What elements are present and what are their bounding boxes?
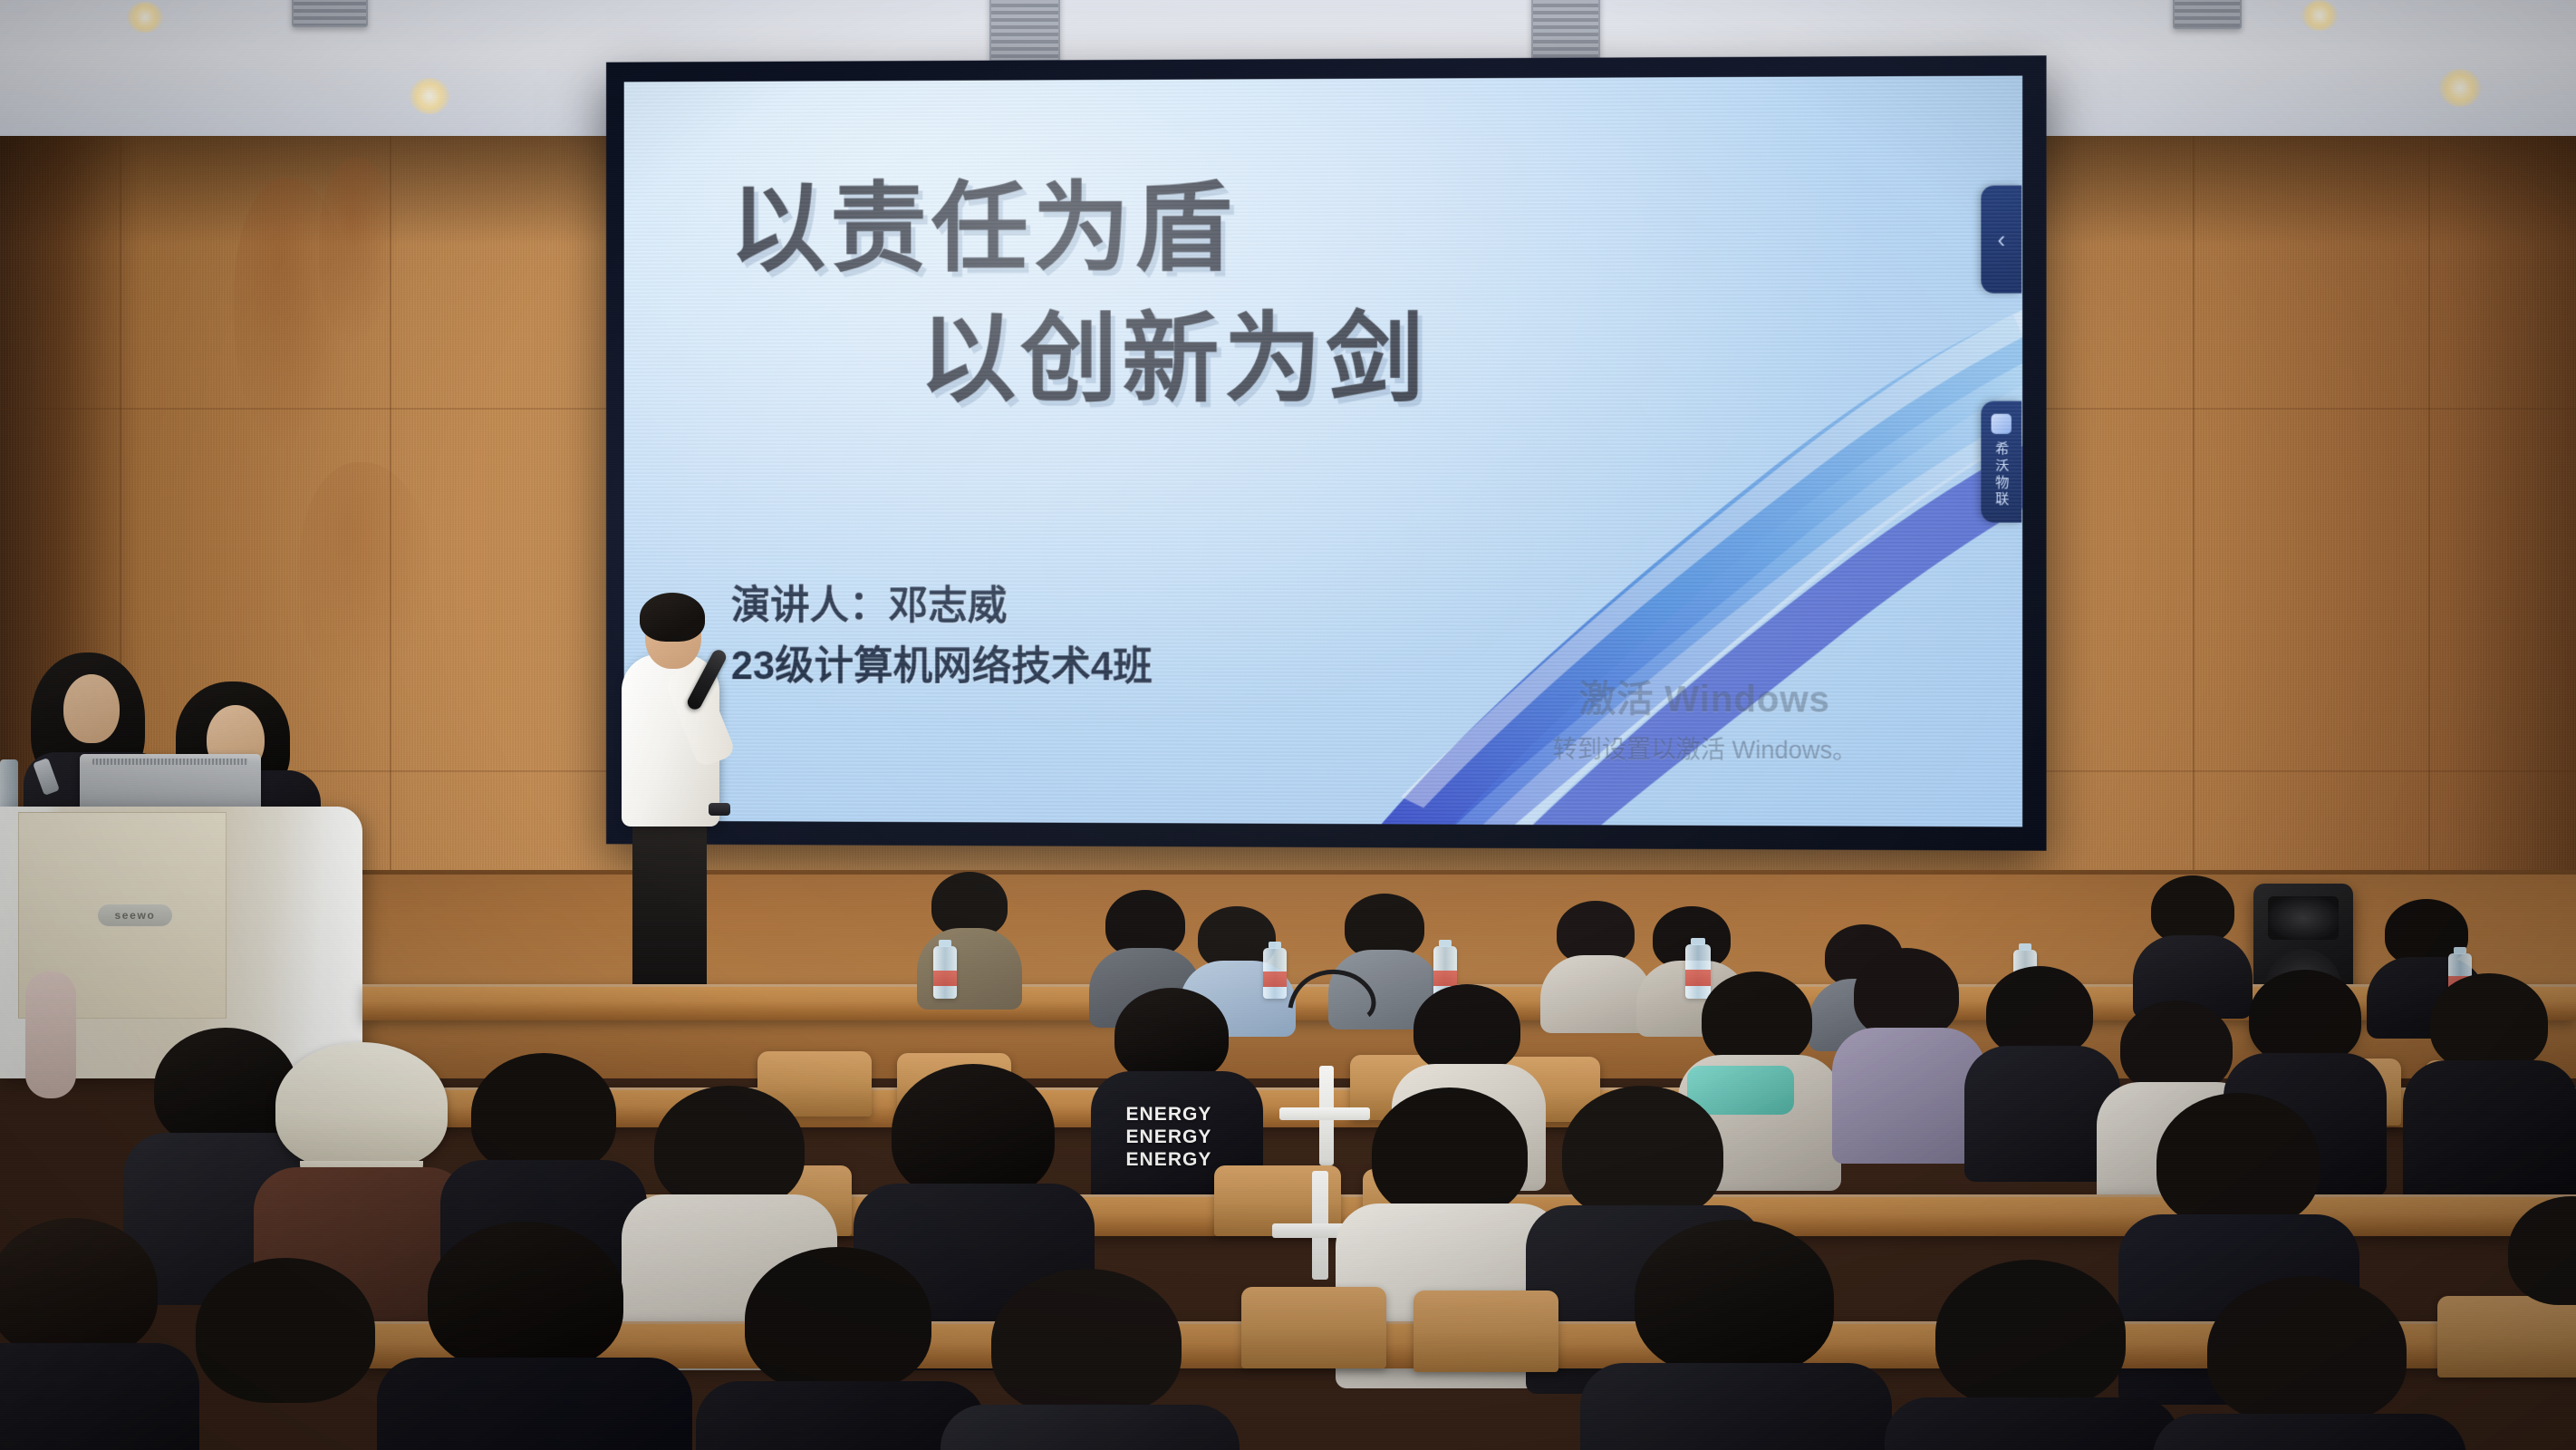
audience-hair bbox=[2156, 1093, 2320, 1229]
audience-hair bbox=[1854, 948, 1959, 1039]
ceiling-vent bbox=[1531, 0, 1600, 65]
lecture-hall-photo: 以责任为盾 以创新为剑 演讲人：邓志威 23级计算机网络技术4班 激活 Wind… bbox=[0, 0, 2576, 1450]
presentation-clicker bbox=[709, 803, 730, 816]
audience-member bbox=[2501, 1196, 2576, 1396]
ceiling-downlight bbox=[2301, 0, 2338, 31]
audience-hair bbox=[2120, 1000, 2233, 1093]
audio-cable bbox=[1285, 962, 1394, 1017]
audience-member bbox=[1973, 966, 2109, 1174]
audience-member bbox=[2414, 973, 2568, 1200]
audience-torso bbox=[1832, 1028, 1986, 1164]
audience-hair bbox=[745, 1247, 931, 1392]
audience-hair bbox=[1372, 1087, 1528, 1218]
audience-member bbox=[716, 1247, 970, 1450]
audience-hair bbox=[2151, 875, 2234, 944]
ceiling-vent bbox=[2173, 0, 2242, 29]
audience-hair bbox=[892, 1064, 1055, 1200]
audience-hair bbox=[1413, 984, 1520, 1073]
slide-title: 以责任为盾 以创新为剑 bbox=[624, 159, 2022, 424]
ceiling-downlight bbox=[410, 78, 449, 114]
seat-back bbox=[1413, 1290, 1558, 1372]
seewo-iot-label: 希沃物联 bbox=[1992, 441, 2011, 508]
slide-subtitle: 演讲人：邓志威 23级计算机网络技术4班 bbox=[731, 576, 1153, 698]
audience-hair bbox=[196, 1258, 375, 1403]
audience-member bbox=[1602, 1220, 1874, 1450]
audience-torso bbox=[377, 1358, 692, 1450]
audience-hair bbox=[0, 1218, 158, 1358]
windows-activation-watermark: 激活 Windows 转到设置以激活 Windows。 bbox=[1553, 670, 1857, 767]
audience-member bbox=[1839, 948, 1975, 1156]
baseball-cap bbox=[275, 1042, 448, 1169]
seewo-brand-plate: seewo bbox=[98, 904, 172, 926]
presenter-hair bbox=[640, 593, 705, 642]
bottle-label bbox=[933, 971, 957, 986]
stage-edge bbox=[0, 870, 2576, 875]
chevron-left-icon[interactable]: ‹ bbox=[1981, 186, 2021, 294]
ceiling-vent bbox=[989, 0, 1060, 62]
audience-hair bbox=[1562, 1086, 1723, 1220]
audience-torso bbox=[1580, 1363, 1892, 1450]
raised-arm bbox=[25, 971, 76, 1098]
audience-hair bbox=[991, 1269, 1182, 1416]
presenter bbox=[613, 571, 739, 988]
slide-title-line-2: 以创新为剑 bbox=[624, 292, 2022, 424]
seewo-iot-badge[interactable]: 希沃物联 bbox=[1981, 401, 2021, 523]
audience-member bbox=[2147, 875, 2238, 1002]
audience-hair bbox=[428, 1222, 623, 1372]
audience-hair bbox=[1986, 966, 2093, 1057]
audience-hair bbox=[654, 1086, 805, 1209]
audience-member bbox=[1905, 1260, 2158, 1450]
speaker-tweeter bbox=[2268, 896, 2339, 940]
audience-hair bbox=[1935, 1260, 2126, 1408]
audience-member bbox=[18, 961, 127, 1106]
audience-member bbox=[2175, 1276, 2446, 1450]
audience-torso bbox=[1885, 1397, 2180, 1450]
operator-1-head bbox=[63, 674, 120, 743]
audience-member-with-logo-tee bbox=[399, 1222, 671, 1450]
audience-hair bbox=[2430, 973, 2548, 1071]
audience-member bbox=[169, 1258, 404, 1450]
audience-hair bbox=[1635, 1220, 1834, 1376]
slide-title-line-1: 以责任为盾 bbox=[624, 159, 2022, 295]
water-bottle bbox=[1263, 948, 1287, 999]
seewo-iot-toolbar[interactable]: ‹ 希沃物联 bbox=[1980, 186, 2022, 523]
ceiling-vent bbox=[292, 0, 368, 27]
audience-hair bbox=[471, 1053, 616, 1174]
audience-member bbox=[960, 1269, 1223, 1450]
audience-hair bbox=[2207, 1276, 2407, 1425]
water-bottle bbox=[933, 946, 957, 999]
seat-back bbox=[1241, 1287, 1386, 1368]
audience-hair bbox=[2249, 970, 2361, 1064]
presenter-name-label: 演讲人：邓志威 bbox=[731, 576, 1153, 637]
led-display-bezel: 以责任为盾 以创新为剑 演讲人：邓志威 23级计算机网络技术4班 激活 Wind… bbox=[606, 55, 2046, 850]
audience-torso bbox=[2153, 1414, 2466, 1450]
watermark-heading: 激活 Windows bbox=[1553, 670, 1857, 723]
audience-hair bbox=[1114, 988, 1229, 1082]
presenter-trousers bbox=[632, 802, 707, 997]
audience-member: ENERGYENERGYENERGY bbox=[1096, 988, 1250, 1187]
audience-hair bbox=[2508, 1196, 2576, 1305]
presentation-screen[interactable]: 以责任为盾 以创新为剑 演讲人：邓志威 23级计算机网络技术4班 激活 Wind… bbox=[624, 76, 2022, 827]
watermark-subtext: 转到设置以激活 Windows。 bbox=[1553, 730, 1857, 766]
hoodie-text: ENERGYENERGYENERGY bbox=[1109, 1104, 1229, 1171]
ceiling-downlight bbox=[2439, 69, 2481, 107]
audience-member bbox=[1553, 901, 1640, 1013]
audience-hair bbox=[1105, 890, 1185, 957]
presenter-class-label: 23级计算机网络技术4班 bbox=[731, 637, 1153, 699]
audience-torso bbox=[941, 1405, 1240, 1450]
bottle-label bbox=[1263, 971, 1287, 987]
audience-torso bbox=[2403, 1060, 2576, 1209]
ceiling-downlight bbox=[127, 2, 163, 33]
seewo-logo-icon bbox=[1992, 414, 2012, 434]
